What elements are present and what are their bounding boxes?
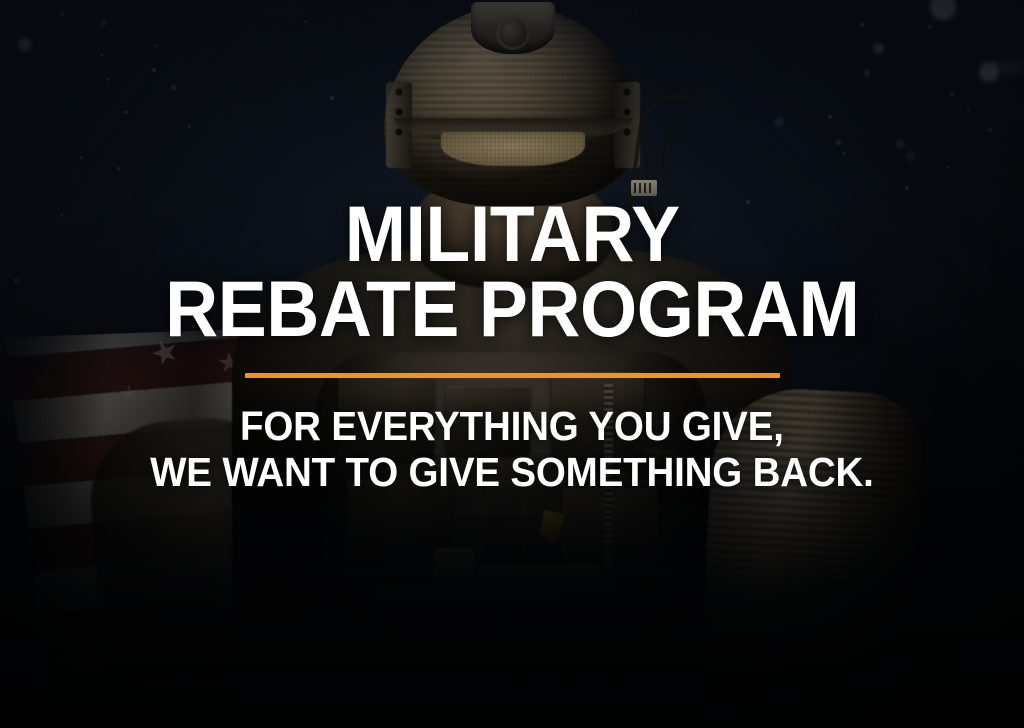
subheadline-line-1: FOR EVERYTHING YOU GIVE, [240,403,784,449]
subheadline: FOR EVERYTHING YOU GIVE, WE WANT TO GIVE… [150,404,874,496]
orange-divider-rule [245,373,780,378]
headline: MILITARY REBATE PROGRAM [165,196,859,346]
military-rebate-banner: MILITARY REBATE PROGRAM FOR EVERYTHING Y… [0,0,1024,728]
headline-line-2: REBATE PROGRAM [165,271,859,346]
subheadline-line-2: WE WANT TO GIVE SOMETHING BACK. [150,450,874,496]
banner-content: MILITARY REBATE PROGRAM FOR EVERYTHING Y… [0,0,1024,728]
